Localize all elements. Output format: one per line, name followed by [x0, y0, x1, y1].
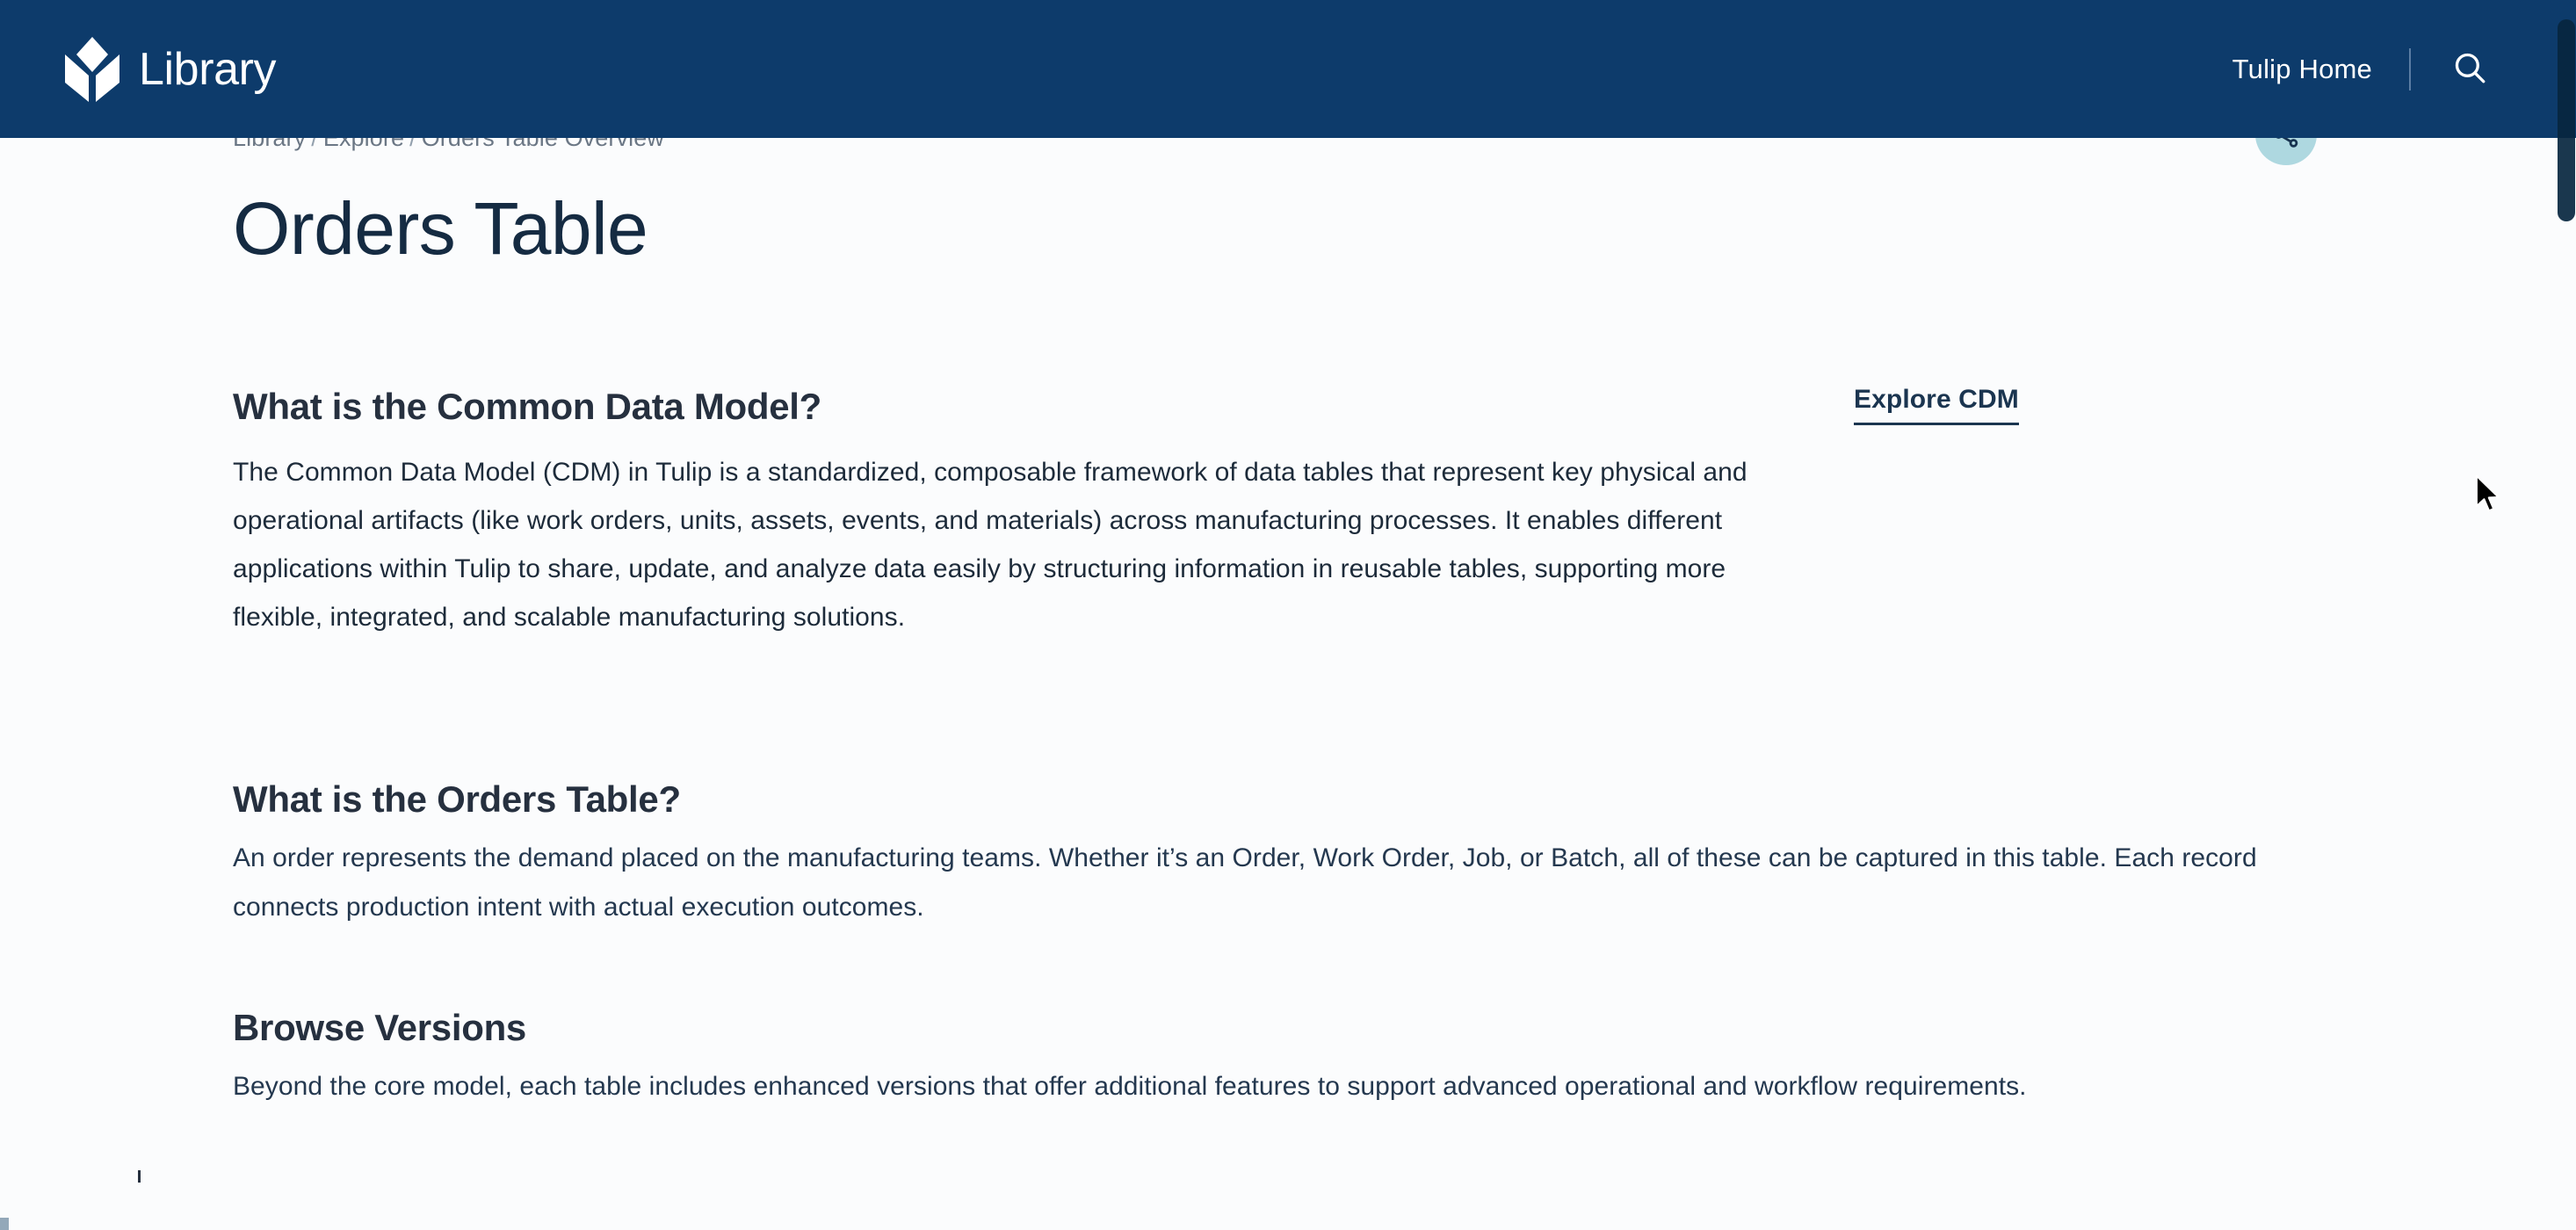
section-browse-versions: Browse Versions Beyond the core model, e… [233, 1006, 2429, 1111]
header-actions: Tulip Home [2232, 46, 2492, 92]
tulip-home-link[interactable]: Tulip Home [2232, 54, 2372, 85]
section-heading-orders: What is the Orders Table? [233, 778, 2429, 821]
section-body-orders: An order represents the demand placed on… [233, 834, 2280, 932]
next-section-sliver-edge [0, 1218, 9, 1230]
search-icon [2451, 49, 2488, 89]
page-scrollbar[interactable] [2553, 0, 2576, 1230]
section-body-cdm: The Common Data Model (CDM) in Tulip is … [233, 448, 1797, 641]
header-divider [2409, 48, 2411, 90]
next-section-sliver [138, 1170, 141, 1183]
section-orders-table: What is the Orders Table? An order repre… [233, 778, 2429, 932]
site-header: Library Tulip Home [0, 0, 2576, 138]
page-title: Orders Table [233, 189, 648, 269]
tulip-logo-icon [65, 37, 119, 102]
brand-name: Library [139, 47, 276, 92]
scrollbar-thumb[interactable] [2558, 19, 2575, 221]
page-scroll-container[interactable]: Library/Explore/Orders Table Overview Or… [0, 0, 2576, 1230]
search-button[interactable] [2448, 46, 2492, 92]
section-heading-versions: Browse Versions [233, 1006, 2429, 1050]
section-heading-cdm: What is the Common Data Model? [233, 385, 1726, 429]
brand-home-link[interactable]: Library [65, 37, 276, 102]
explore-cdm-link[interactable]: Explore CDM [1854, 385, 2019, 425]
section-common-data-model: What is the Common Data Model? Explore C… [233, 385, 2341, 641]
section-body-versions: Beyond the core model, each table includ… [233, 1062, 2289, 1111]
